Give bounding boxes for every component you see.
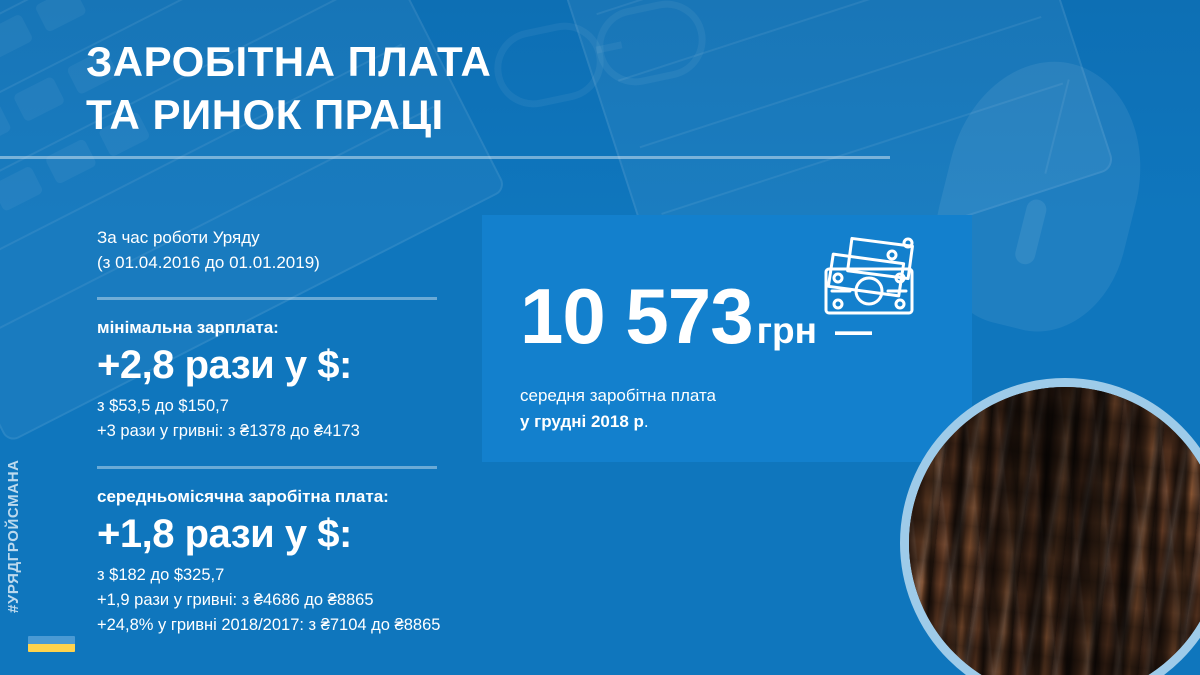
panel-caption: середня заробітна плата у грудні 2018 р. bbox=[520, 383, 716, 434]
panel-caption-line1: середня заробітна плата bbox=[520, 383, 716, 409]
stat-block-average-wage: середньомісячна заробітна плата: +1,8 ра… bbox=[97, 487, 557, 638]
currency-unit-label: грн bbox=[757, 312, 817, 349]
highlight-panel: 10 573 грн — bbox=[482, 215, 972, 462]
stat-detail-average-wage-uah: +1,9 рази у гривні: з ₴4686 до ₴8865 bbox=[97, 588, 557, 613]
banknotes-icon bbox=[812, 231, 932, 326]
section-divider-1 bbox=[97, 297, 437, 300]
panel-caption-line2: у грудні 2018 р. bbox=[520, 409, 716, 435]
panel-caption-period: у грудні 2018 р bbox=[520, 412, 644, 431]
section-divider-2 bbox=[97, 466, 437, 469]
glasses-watermark-icon-right bbox=[589, 0, 713, 93]
glasses-watermark-icon bbox=[487, 15, 611, 114]
glasses-bridge bbox=[596, 41, 623, 53]
header-divider bbox=[0, 156, 890, 159]
flag-blue-band bbox=[28, 636, 75, 644]
panel-caption-period-dot: . bbox=[644, 412, 649, 431]
stat-headline-average-wage: +1,8 рази у $: bbox=[97, 512, 557, 557]
ukraine-flag-icon bbox=[28, 636, 75, 652]
average-salary-value: 10 573 bbox=[520, 277, 753, 355]
page-title: ЗАРОБІТНА ПЛАТА ТА РИНОК ПРАЦІ bbox=[86, 36, 491, 142]
wallets-photo bbox=[900, 378, 1200, 675]
stat-label-average-wage: середньомісячна заробітна плата: bbox=[97, 487, 557, 507]
wallets-photo-texture bbox=[909, 387, 1200, 675]
stat-detail-average-wage-yoy: +24,8% у гривні 2018/2017: з ₴7104 до ₴8… bbox=[97, 613, 557, 638]
infographic-slide: ЗАРОБІТНА ПЛАТА ТА РИНОК ПРАЦІ За час ро… bbox=[0, 0, 1200, 675]
government-hashtag: #УРЯДГРОЙСМАНА bbox=[5, 459, 22, 613]
stat-detail-average-wage-usd: з $182 до $325,7 bbox=[97, 563, 557, 588]
flag-yellow-band bbox=[28, 644, 75, 652]
